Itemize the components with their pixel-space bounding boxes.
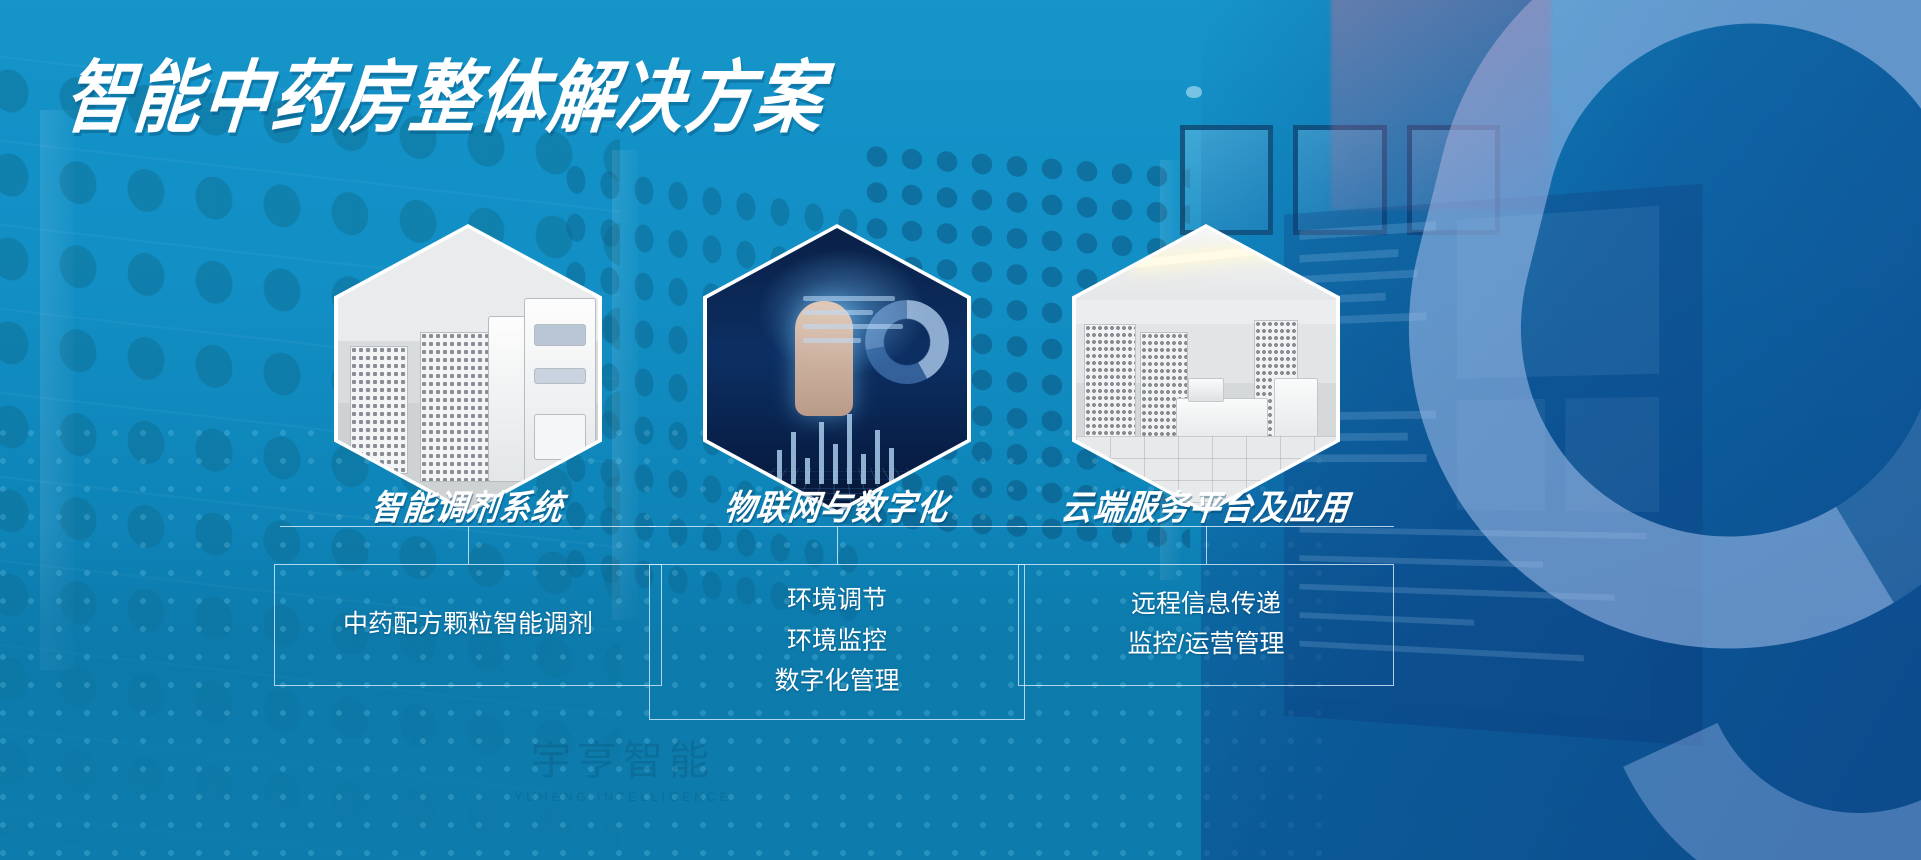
security-camera-icon	[1186, 86, 1202, 98]
hexagon-image-dispensing-machine	[338, 228, 598, 510]
solution-cards: 智能调剂系统 中药配方颗粒智能调剂	[0, 224, 1921, 674]
card-feature-box: 环境调节 环境监控 数字化管理	[649, 564, 1025, 720]
feature-item: 环境监控	[660, 624, 1014, 659]
hexagon-image-pharmacy-room	[1076, 228, 1336, 510]
feature-item: 远程信息传递	[1029, 587, 1383, 622]
hexagon-frame	[334, 224, 602, 514]
hexagon-frame	[703, 224, 971, 514]
hexagon-image-digital-touch	[707, 228, 967, 510]
feature-item: 数字化管理	[660, 664, 1014, 699]
hexagon-frame	[1072, 224, 1340, 514]
card-connector-stem	[468, 526, 469, 564]
card-feature-box: 中药配方颗粒智能调剂	[274, 564, 662, 686]
card-title: 云端服务平台及应用	[1003, 479, 1409, 529]
poster-canvas: 宇亨智能 YUHENG INTELLIGENCE 智能中药房整体解决方案	[0, 0, 1921, 860]
page-title: 智能中药房整体解决方案	[60, 34, 831, 148]
card-feature-box: 远程信息传递 监控/运营管理	[1018, 564, 1394, 686]
magenta-glow-decoration	[1331, 0, 1551, 210]
feature-item: 环境调节	[660, 583, 1014, 618]
card-title: 智能调剂系统	[265, 479, 671, 529]
card-title: 物联网与数字化	[634, 479, 1040, 529]
feature-item: 中药配方颗粒智能调剂	[285, 607, 651, 642]
card-connector-stem	[1206, 526, 1207, 564]
feature-item: 监控/运营管理	[1029, 627, 1383, 662]
card-connector-stem	[837, 526, 838, 564]
